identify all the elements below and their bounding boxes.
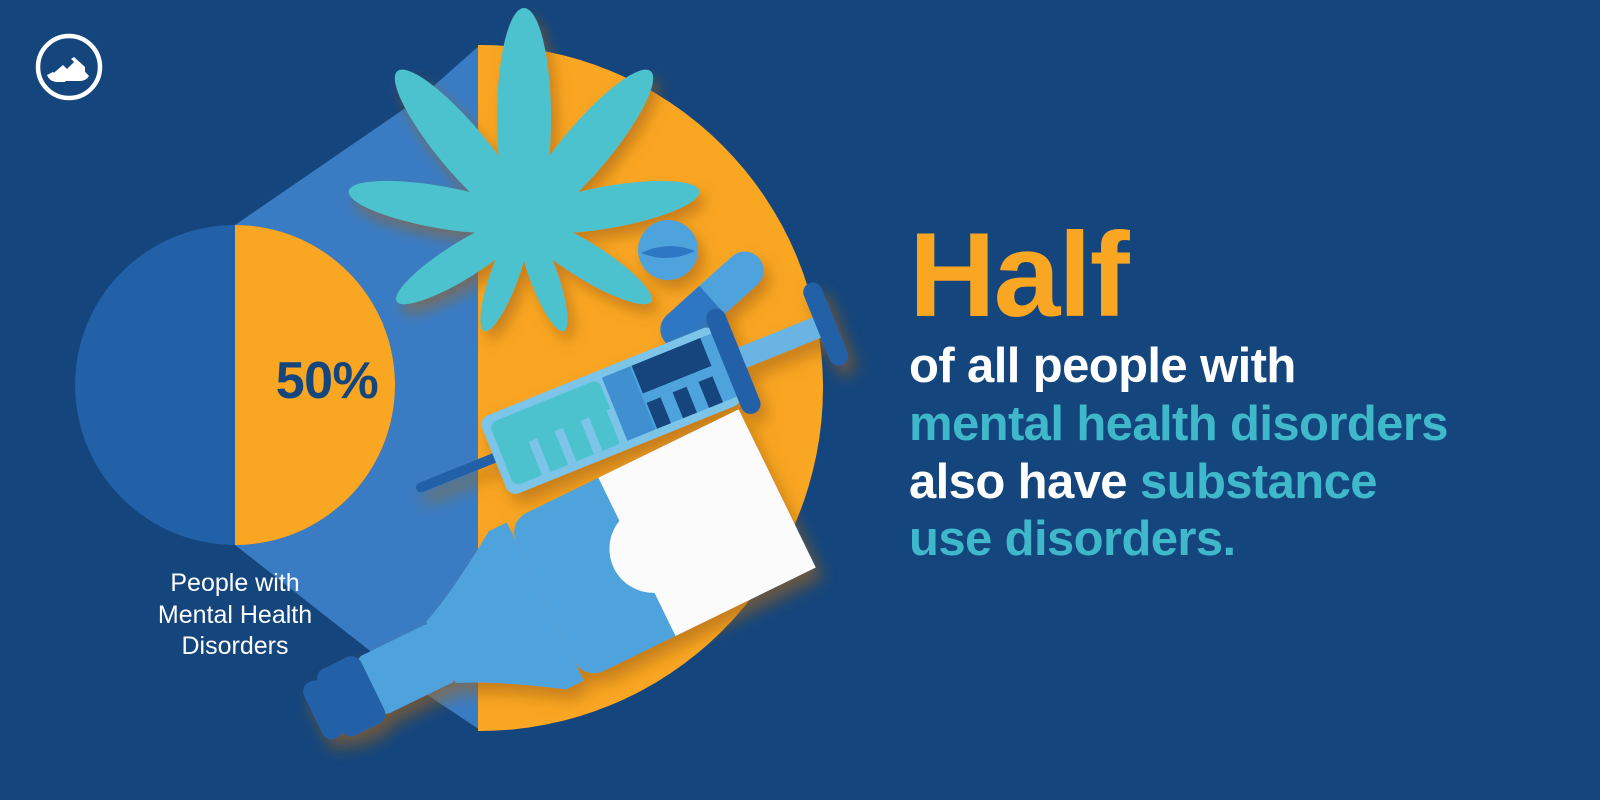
illustration-group bbox=[0, 0, 900, 800]
headline-block: Half of all people with mental health di… bbox=[909, 218, 1569, 569]
headline-line-3: also have substance bbox=[909, 454, 1569, 512]
pie-caption-line-2: Mental Health bbox=[90, 600, 380, 632]
pie-caption-line-1: People with bbox=[90, 568, 380, 600]
headline-line-2: mental health disorders bbox=[909, 396, 1569, 454]
headline-line-3-teal: substance bbox=[1140, 455, 1377, 509]
headline-hero: Half bbox=[909, 218, 1569, 332]
infographic-canvas: 50% People with Mental Health Disorders … bbox=[0, 0, 1600, 800]
pie-value-label: 50% bbox=[252, 355, 402, 407]
illustration-svg bbox=[0, 0, 900, 800]
round-pill-icon bbox=[638, 220, 698, 280]
headline-line-4: use disorders. bbox=[909, 511, 1569, 569]
pie-caption: People with Mental Health Disorders bbox=[90, 568, 380, 663]
pie-caption-line-3: Disorders bbox=[90, 631, 380, 663]
headline-line-1: of all people with bbox=[909, 338, 1569, 396]
headline-line-3-white: also have bbox=[909, 455, 1140, 509]
